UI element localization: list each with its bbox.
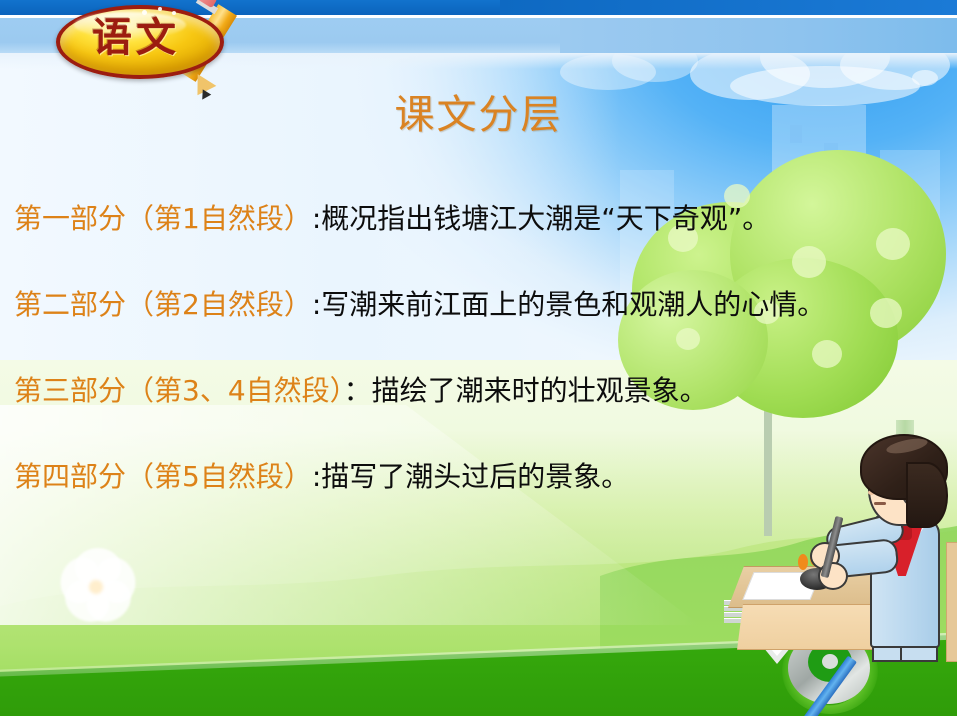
content-line: 第二部分（第2自然段）:写潮来前江面上的景色和观潮人的心情。	[14, 282, 944, 328]
content-line-label: 第一部分（第1自然段）	[14, 202, 312, 235]
content-line-text: :写潮来前江面上的景色和观潮人的心情。	[312, 288, 825, 321]
student-hair-side	[906, 462, 948, 528]
side-post	[946, 542, 957, 662]
top-banner-dark-stripe-right	[500, 0, 957, 15]
slide-canvas: 语文 课文分层 第一部分（第1自然段）:概况指出钱塘江大潮是“天下奇观”。 第二…	[0, 0, 957, 716]
subject-badge: 语文	[46, 0, 256, 82]
content-line-label: 第二部分（第2自然段）	[14, 288, 312, 321]
top-banner-light-stripe-right	[560, 18, 957, 53]
student-writing-icon	[700, 420, 957, 716]
content-line: 第一部分（第1自然段）:概况指出钱塘江大潮是“天下奇观”。	[14, 196, 944, 242]
content-line-label: 第四部分（第5自然段）	[14, 460, 312, 493]
page-title: 课文分层	[0, 82, 957, 140]
content-line: 第三部分（第3、4自然段）：描绘了潮来时的壮观景象。	[14, 368, 944, 414]
student-mouth	[874, 502, 886, 505]
subject-badge-label: 语文	[56, 5, 216, 71]
content-line-text: :概况指出钱塘江大潮是“天下奇观”。	[312, 202, 770, 235]
disc-hole	[822, 654, 838, 669]
content-line-text: ：描绘了潮来时的壮观景象。	[344, 374, 708, 407]
content-line-label: 第三部分（第3、4自然段）	[14, 374, 344, 407]
content-line-text: :描写了潮头过后的景象。	[312, 460, 629, 493]
desk-front-panel	[734, 604, 884, 650]
flower-icon	[56, 548, 140, 624]
